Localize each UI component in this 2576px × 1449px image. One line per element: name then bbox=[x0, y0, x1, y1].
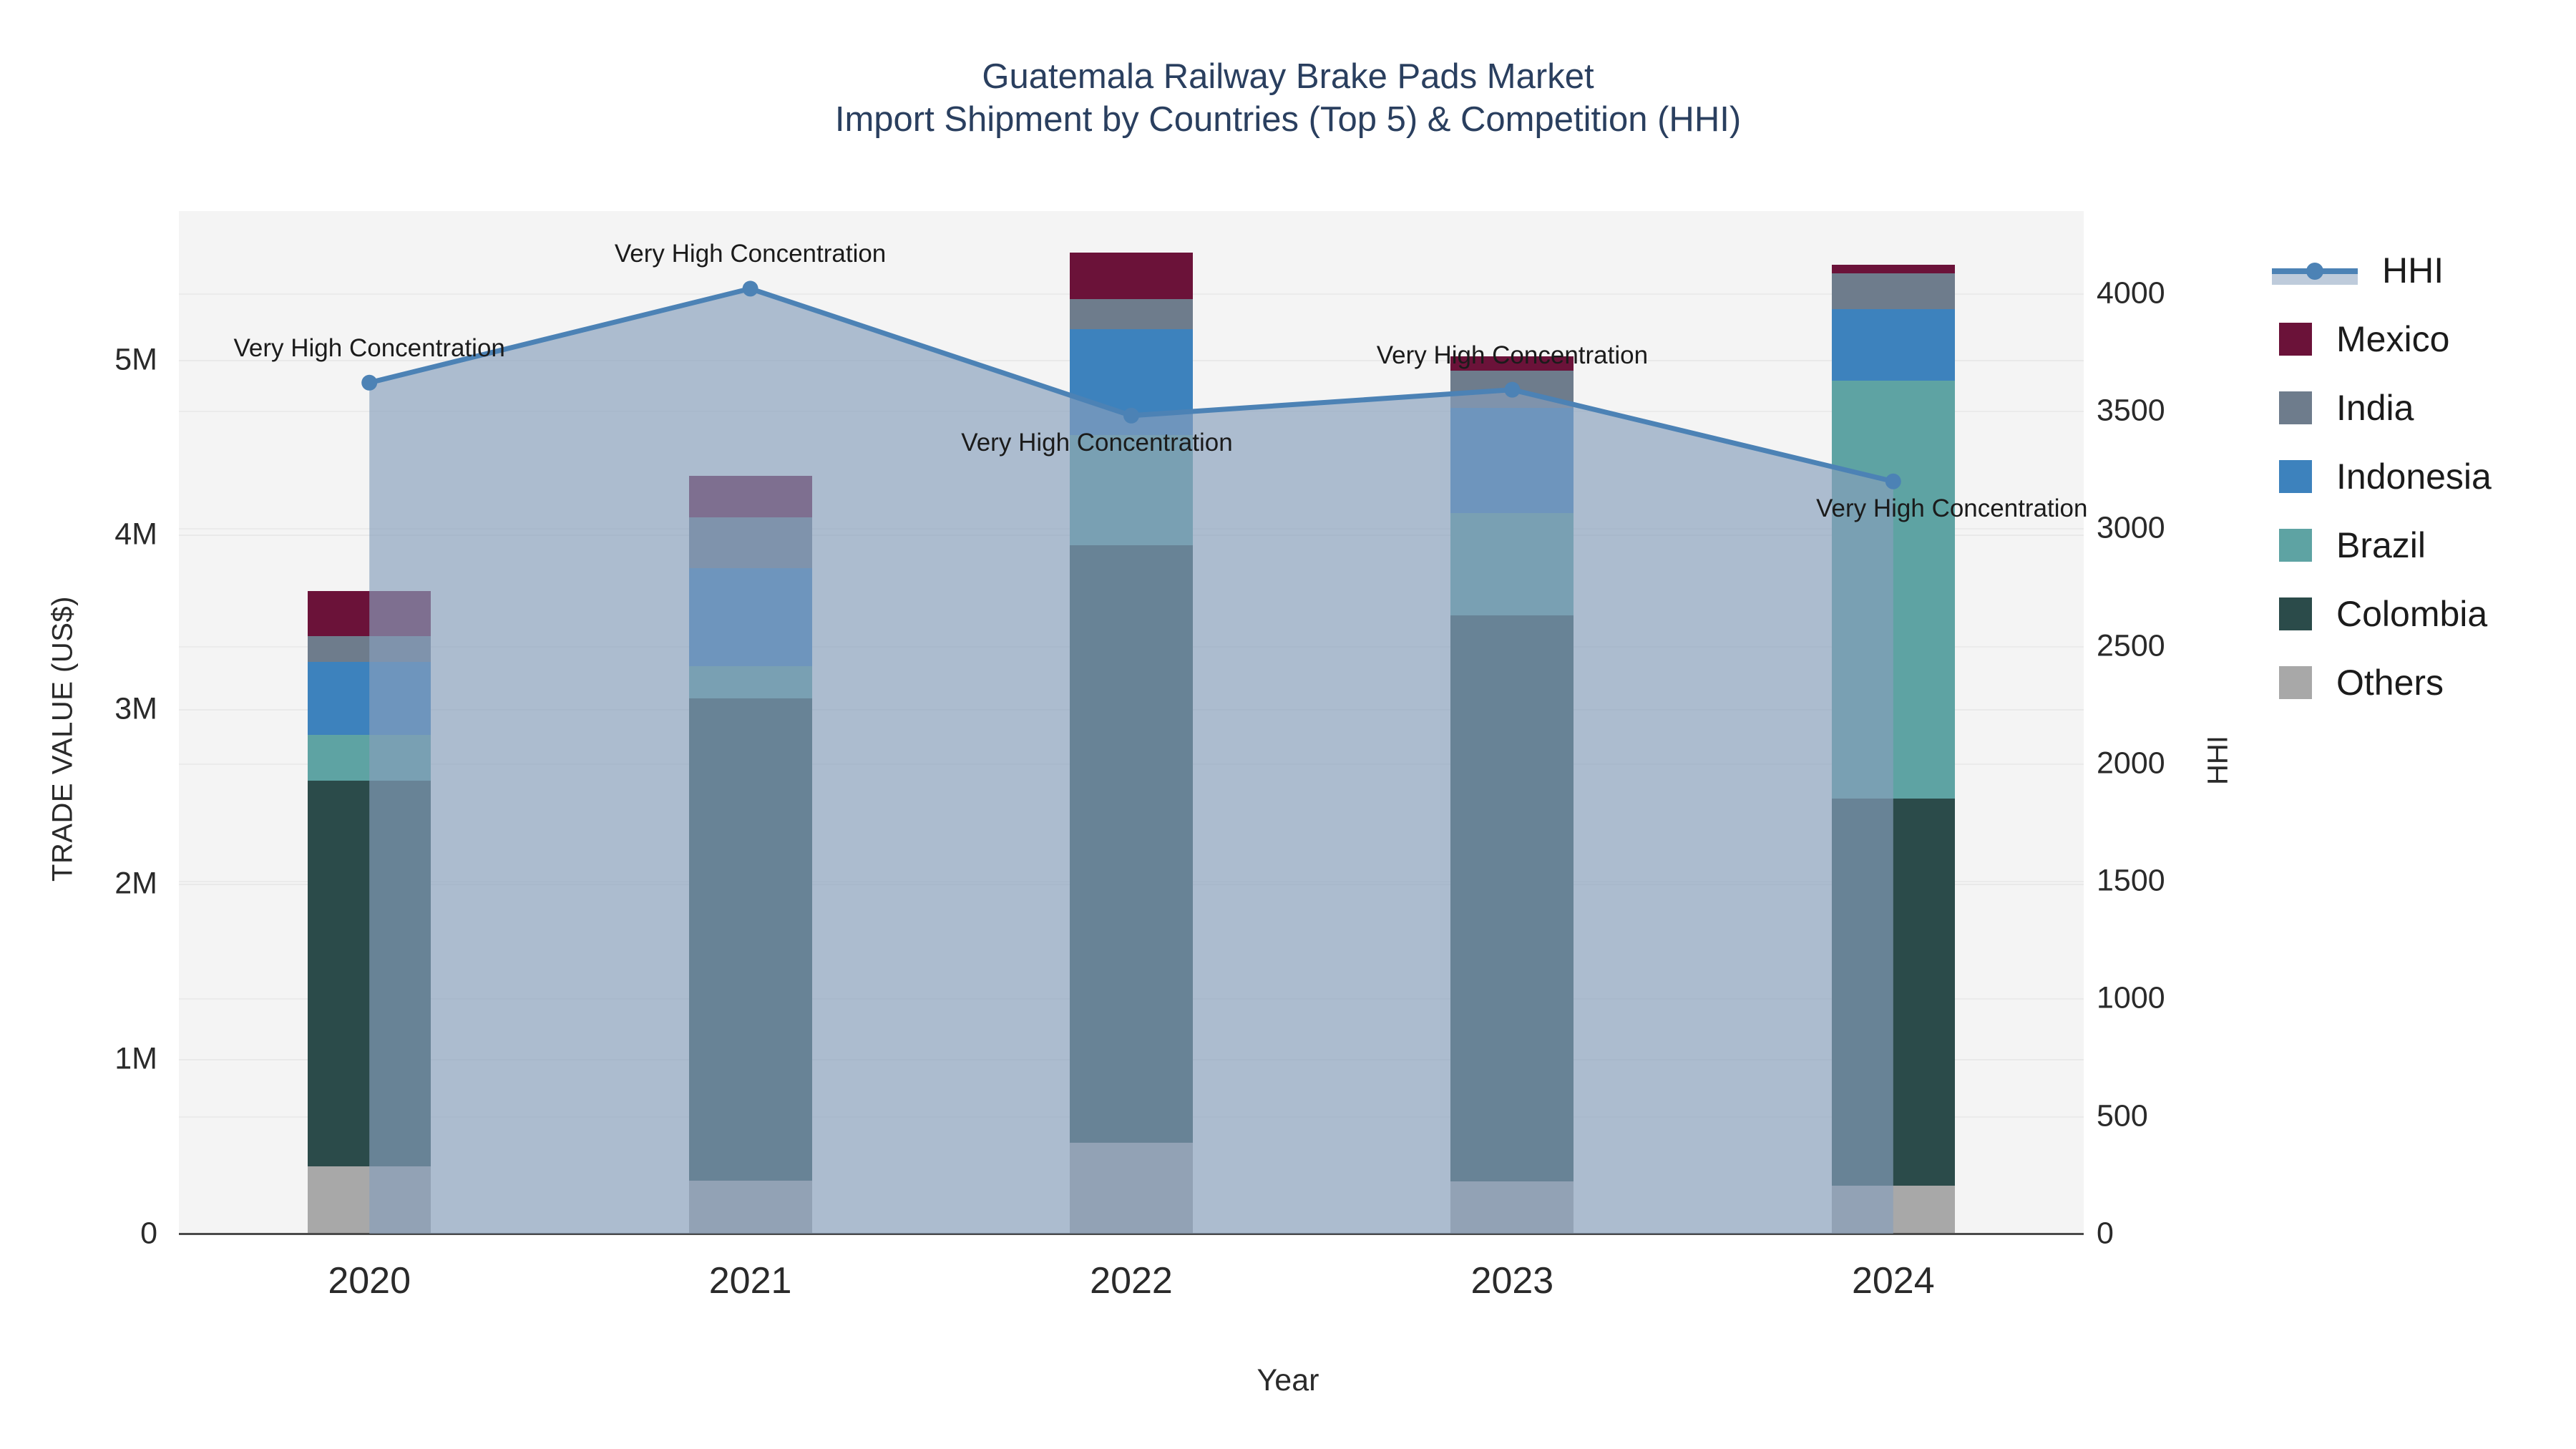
bar-segment-india-2020[interactable] bbox=[308, 636, 431, 662]
bar-segment-indonesia-2022[interactable] bbox=[1070, 329, 1193, 435]
bar-segment-colombia-2021[interactable] bbox=[689, 698, 812, 1181]
chart-root: Guatemala Railway Brake Pads Market Impo… bbox=[0, 0, 2576, 1449]
legend-label: Brazil bbox=[2336, 525, 2426, 566]
x-tick-2024[interactable]: 2024 bbox=[1852, 1259, 1935, 1302]
x-tick-2020[interactable]: 2020 bbox=[328, 1259, 411, 1302]
legend-line-marker-icon bbox=[2272, 254, 2358, 287]
legend-item-colombia[interactable]: Colombia bbox=[2279, 580, 2565, 648]
y-tick-left-1M: 1M bbox=[0, 1041, 157, 1076]
bar-segment-india-2023[interactable] bbox=[1450, 371, 1574, 409]
bar-segment-brazil-2021[interactable] bbox=[689, 666, 812, 698]
bar-segment-india-2022[interactable] bbox=[1070, 299, 1193, 330]
legend-item-brazil[interactable]: Brazil bbox=[2279, 511, 2565, 580]
y-tick-right-0: 0 bbox=[2097, 1216, 2311, 1252]
bar-segment-colombia-2022[interactable] bbox=[1070, 545, 1193, 1143]
bar-segment-colombia-2023[interactable] bbox=[1450, 615, 1574, 1181]
legend-item-indonesia[interactable]: Indonesia bbox=[2279, 442, 2565, 511]
legend-label: Colombia bbox=[2336, 593, 2487, 635]
bar-segment-india-2021[interactable] bbox=[689, 517, 812, 568]
legend-swatch-icon bbox=[2279, 597, 2312, 630]
annotation-2020: Very High Concentration bbox=[233, 334, 504, 363]
y-tick-right-1000: 1000 bbox=[2097, 981, 2311, 1016]
chart-title: Guatemala Railway Brake Pads Market bbox=[0, 56, 2576, 99]
legend-swatch-icon bbox=[2279, 391, 2312, 424]
legend-item-hhi[interactable]: HHI bbox=[2279, 236, 2565, 305]
bar-segment-others-2020[interactable] bbox=[308, 1166, 431, 1234]
bar-segment-indonesia-2020[interactable] bbox=[308, 662, 431, 735]
x-axis-title: Year bbox=[0, 1363, 2576, 1398]
bar-segment-indonesia-2024[interactable] bbox=[1832, 309, 1955, 381]
y-axis-right-title: HHI bbox=[2202, 653, 2235, 868]
bar-segment-others-2021[interactable] bbox=[689, 1181, 812, 1234]
legend-label: Others bbox=[2336, 662, 2444, 703]
chart-subtitle: Import Shipment by Countries (Top 5) & C… bbox=[0, 99, 2576, 142]
legend-swatch-icon bbox=[2279, 460, 2312, 493]
legend-swatch-icon bbox=[2279, 529, 2312, 562]
legend-item-mexico[interactable]: Mexico bbox=[2279, 305, 2565, 374]
legend-item-india[interactable]: India bbox=[2279, 374, 2565, 442]
legend-label: Indonesia bbox=[2336, 456, 2492, 497]
plot-area bbox=[179, 211, 2084, 1234]
bar-segment-others-2022[interactable] bbox=[1070, 1143, 1193, 1234]
bar-segment-mexico-2024[interactable] bbox=[1832, 265, 1955, 273]
chart-legend: HHIMexicoIndiaIndonesiaBrazilColombiaOth… bbox=[2279, 236, 2565, 717]
bar-segment-brazil-2024[interactable] bbox=[1832, 381, 1955, 798]
y-axis-left-title: TRADE VALUE (US$) bbox=[47, 489, 79, 990]
legend-label: HHI bbox=[2382, 250, 2444, 291]
y-tick-left-5M: 5M bbox=[0, 342, 157, 377]
y-tick-left-0: 0 bbox=[0, 1216, 157, 1252]
annotation-2023: Very High Concentration bbox=[1377, 341, 1648, 370]
bar-segment-others-2024[interactable] bbox=[1832, 1186, 1955, 1234]
bar-segment-mexico-2021[interactable] bbox=[689, 476, 812, 518]
bar-segment-others-2023[interactable] bbox=[1450, 1181, 1574, 1234]
y-tick-right-1500: 1500 bbox=[2097, 864, 2311, 899]
legend-swatch-icon bbox=[2279, 323, 2312, 356]
bar-segment-indonesia-2023[interactable] bbox=[1450, 408, 1574, 513]
annotation-2021: Very High Concentration bbox=[615, 240, 886, 268]
bar-segment-brazil-2020[interactable] bbox=[308, 735, 431, 781]
legend-item-others[interactable]: Others bbox=[2279, 648, 2565, 717]
legend-swatch-icon bbox=[2279, 666, 2312, 699]
legend-label: India bbox=[2336, 387, 2414, 429]
x-tick-2023[interactable]: 2023 bbox=[1471, 1259, 1554, 1302]
bar-segment-colombia-2020[interactable] bbox=[308, 781, 431, 1166]
bar-segment-mexico-2022[interactable] bbox=[1070, 253, 1193, 299]
bar-segment-brazil-2023[interactable] bbox=[1450, 513, 1574, 616]
annotation-2022: Very High Concentration bbox=[961, 429, 1232, 457]
bar-segment-india-2024[interactable] bbox=[1832, 273, 1955, 309]
x-tick-2021[interactable]: 2021 bbox=[709, 1259, 792, 1302]
legend-label: Mexico bbox=[2336, 318, 2449, 360]
y-tick-right-500: 500 bbox=[2097, 1098, 2311, 1133]
bar-segment-indonesia-2021[interactable] bbox=[689, 568, 812, 666]
bar-segment-mexico-2020[interactable] bbox=[308, 591, 431, 636]
chart-title-block: Guatemala Railway Brake Pads Market Impo… bbox=[0, 56, 2576, 142]
x-tick-2022[interactable]: 2022 bbox=[1090, 1259, 1173, 1302]
legend-dot-icon bbox=[2306, 263, 2323, 280]
x-axis-line bbox=[179, 1233, 2084, 1235]
bar-segment-colombia-2024[interactable] bbox=[1832, 799, 1955, 1186]
annotation-2024: Very High Concentration bbox=[1816, 494, 2087, 523]
